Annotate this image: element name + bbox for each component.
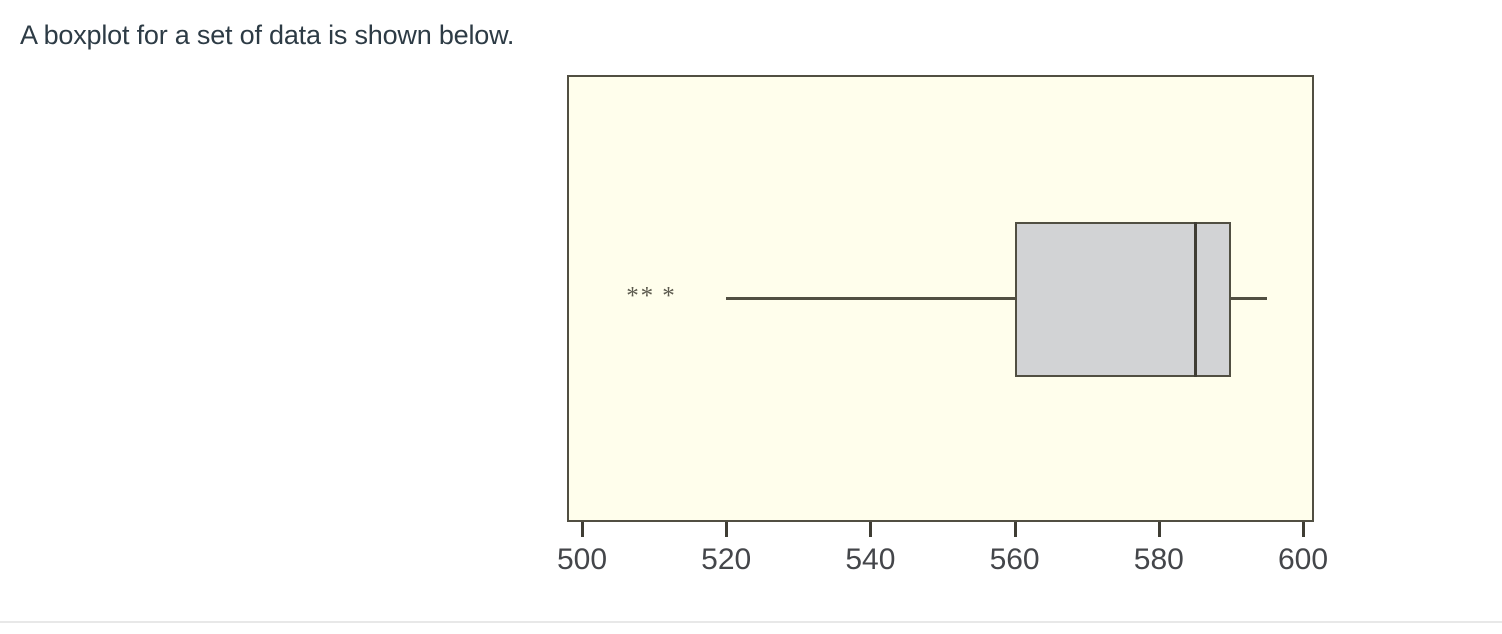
outlier-marker: * — [626, 284, 639, 309]
boxplot-figure: *** 500520540560580600 — [0, 0, 1502, 600]
axis-tick-label: 520 — [701, 543, 751, 577]
lower-whisker — [726, 297, 1014, 300]
axis-tick-label: 600 — [1278, 543, 1328, 577]
axis-tick — [1302, 522, 1305, 537]
plot-area: *** — [567, 75, 1314, 522]
axis-tick-label: 560 — [990, 543, 1040, 577]
axis-tick — [581, 522, 584, 537]
section-divider — [0, 621, 1502, 623]
axis-tick — [725, 522, 728, 537]
axis-tick — [1014, 522, 1017, 537]
outlier-marker: * — [662, 284, 675, 309]
axis-tick — [869, 522, 872, 537]
outlier-marker: * — [641, 284, 654, 309]
axis-tick — [1158, 522, 1161, 537]
median-line — [1194, 222, 1197, 377]
axis-tick-label: 580 — [1134, 543, 1184, 577]
axis-tick-label: 500 — [557, 543, 607, 577]
upper-whisker — [1231, 297, 1267, 300]
axis-tick-label: 540 — [845, 543, 895, 577]
iqr-box — [1015, 222, 1231, 377]
